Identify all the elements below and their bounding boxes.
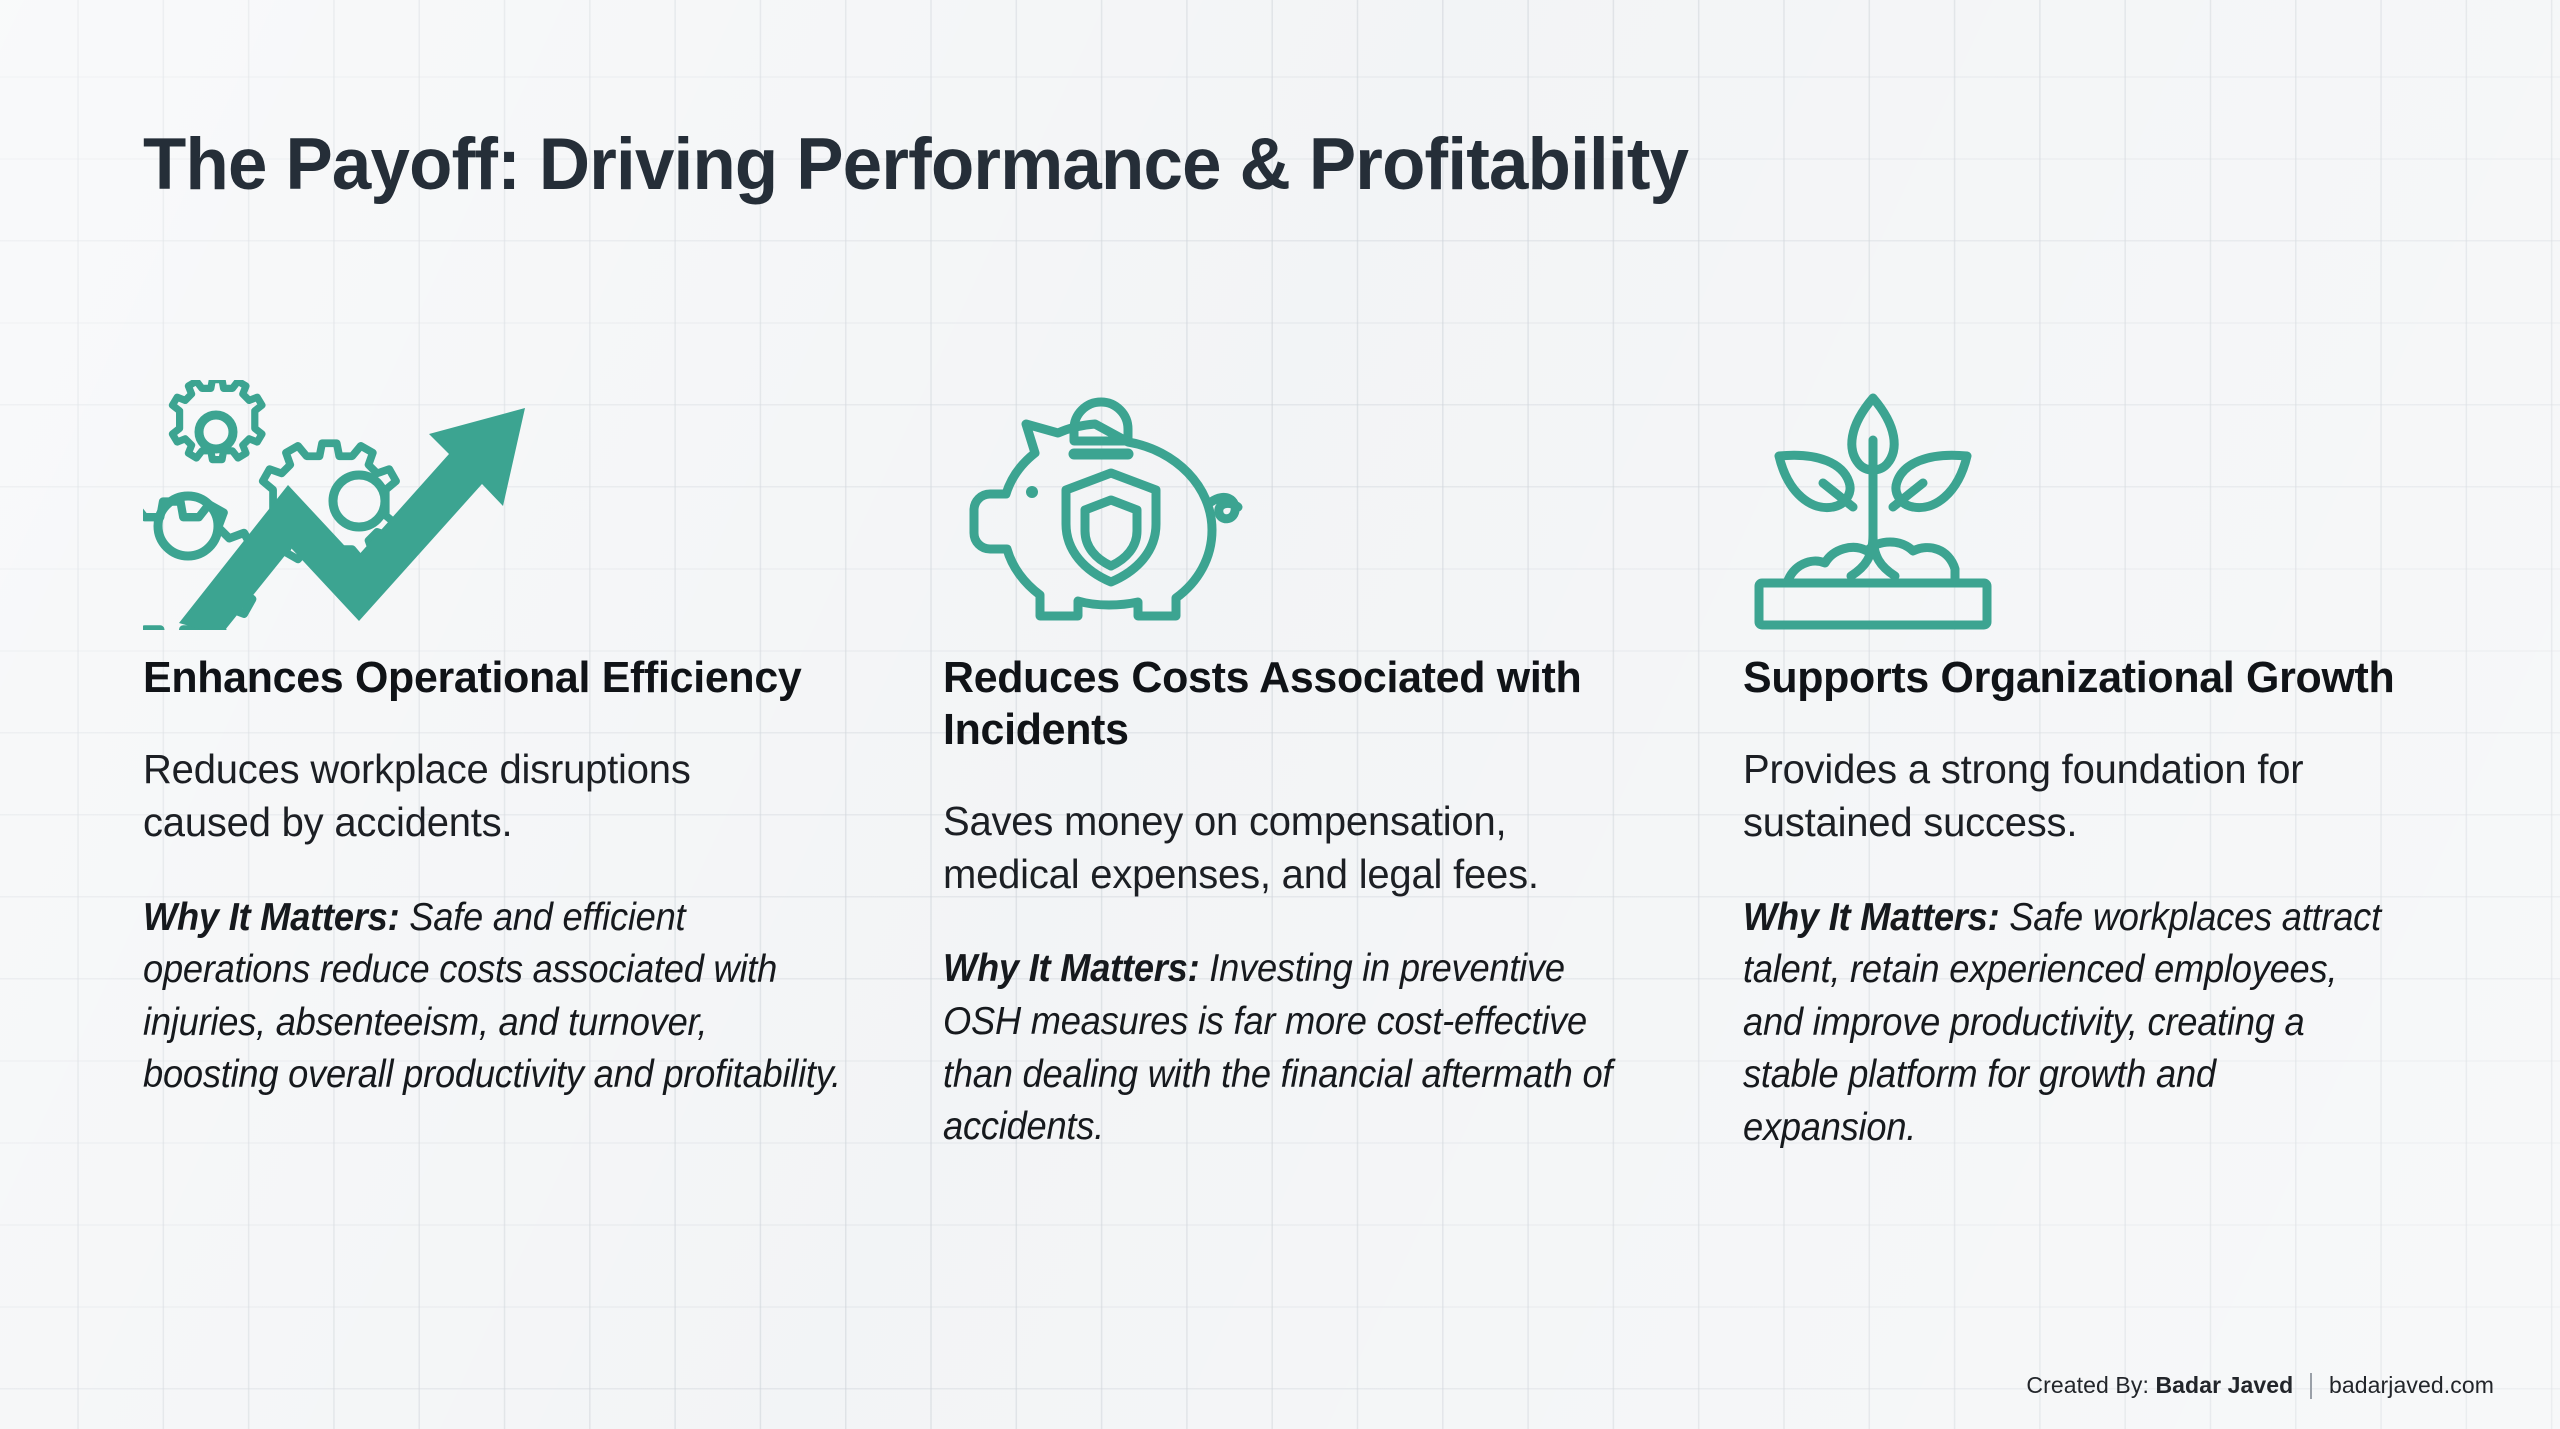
card-body: Saves money on compensation, medical exp… (943, 795, 1616, 902)
card-body: Reduces workplace disruptions caused by … (143, 743, 816, 850)
why-it-matters-note: Why It Matters: Safe and efficient opera… (143, 892, 850, 1103)
why-it-matters-note: Why It Matters: Investing in preventive … (943, 943, 1650, 1154)
card-body: Provides a strong foundation for sustain… (1743, 743, 2416, 850)
note-lead: Why It Matters: (943, 947, 1199, 990)
benefit-column-costs: Reduces Costs Associated with Incidents … (943, 330, 1743, 1155)
card-heading: Supports Organizational Growth (1743, 652, 2416, 704)
website-link[interactable]: badarjaved.com (2329, 1372, 2494, 1399)
note-lead: Why It Matters: (143, 896, 399, 939)
note-lead: Why It Matters: (1743, 896, 1999, 939)
footer-credit: Created By: Badar Javed badarjaved.com (2026, 1372, 2494, 1399)
card-heading: Enhances Operational Efficiency (143, 652, 806, 704)
creator-name: Badar Javed (2155, 1372, 2293, 1398)
card-heading: Reduces Costs Associated with Incidents (943, 652, 1626, 756)
benefit-column-efficiency: Enhances Operational Efficiency Reduces … (143, 330, 943, 1155)
credit-prefix: Created By: (2026, 1372, 2155, 1398)
gears-growth-arrow-icon (143, 330, 943, 630)
benefit-columns: Enhances Operational Efficiency Reduces … (143, 330, 2433, 1155)
footer-divider (2310, 1373, 2312, 1399)
creator-credit: Created By: Badar Javed (2026, 1372, 2293, 1399)
slide-canvas: The Payoff: Driving Performance & Profit… (0, 0, 2560, 1429)
benefit-column-growth: Supports Organizational Growth Provides … (1743, 330, 2433, 1155)
why-it-matters-note: Why It Matters: Safe workplaces attract … (1743, 892, 2385, 1155)
sprout-planter-icon (1743, 330, 2433, 630)
piggy-bank-shield-icon (943, 330, 1743, 630)
page-title: The Payoff: Driving Performance & Profit… (143, 128, 2374, 201)
